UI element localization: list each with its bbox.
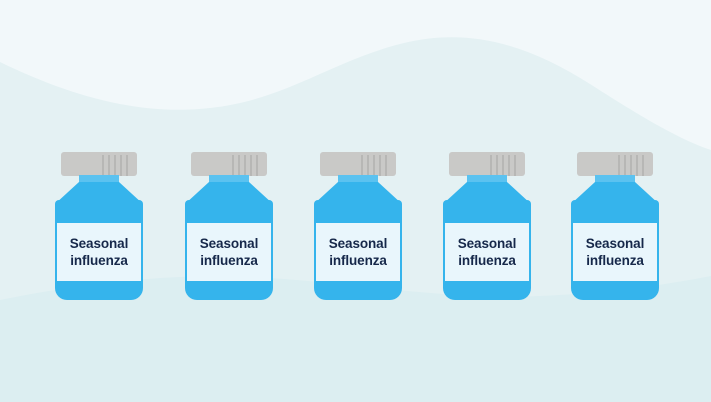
cap-ridge	[361, 155, 363, 176]
vial-label-line-1: Seasonal	[200, 235, 258, 252]
cap-ridge	[514, 155, 516, 176]
cap-ridge-group	[490, 155, 516, 176]
vial-cap-icon	[320, 152, 396, 176]
vial-label-line-2: influenza	[70, 252, 128, 269]
vial-label-line-1: Seasonal	[458, 235, 516, 252]
cap-ridge	[256, 155, 258, 176]
vial-label-line-1: Seasonal	[586, 235, 644, 252]
cap-ridge	[244, 155, 246, 176]
vial: Seasonal influenza	[443, 152, 531, 300]
vial: Seasonal influenza	[571, 152, 659, 300]
vial-label-line-2: influenza	[329, 252, 387, 269]
cap-ridge-group	[232, 155, 258, 176]
vial-cap-icon	[191, 152, 267, 176]
illustration-canvas: Seasonal influenza Seasonal	[0, 0, 711, 402]
cap-ridge-group	[361, 155, 387, 176]
cap-ridge	[250, 155, 252, 176]
cap-ridge	[642, 155, 644, 176]
vial: Seasonal influenza	[55, 152, 143, 300]
cap-ridge	[636, 155, 638, 176]
vial: Seasonal influenza	[314, 152, 402, 300]
vial: Seasonal influenza	[185, 152, 273, 300]
cap-ridge	[120, 155, 122, 176]
cap-ridge	[630, 155, 632, 176]
cap-ridge	[379, 155, 381, 176]
vial-label: Seasonal influenza	[573, 223, 657, 281]
vial-cap-icon	[449, 152, 525, 176]
vial-label-line-1: Seasonal	[70, 235, 128, 252]
cap-ridge	[624, 155, 626, 176]
vial-label: Seasonal influenza	[316, 223, 400, 281]
vial-cap-icon	[577, 152, 653, 176]
cap-ridge	[502, 155, 504, 176]
cap-ridge	[108, 155, 110, 176]
cap-ridge	[496, 155, 498, 176]
cap-ridge	[114, 155, 116, 176]
vial-label: Seasonal influenza	[57, 223, 141, 281]
cap-ridge	[102, 155, 104, 176]
cap-ridge	[232, 155, 234, 176]
cap-ridge	[367, 155, 369, 176]
cap-ridge	[508, 155, 510, 176]
vial-row: Seasonal influenza Seasonal	[0, 0, 711, 402]
cap-ridge	[373, 155, 375, 176]
cap-ridge	[238, 155, 240, 176]
cap-ridge-group	[102, 155, 128, 176]
cap-ridge	[385, 155, 387, 176]
vial-label-line-2: influenza	[586, 252, 644, 269]
vial-label-line-2: influenza	[200, 252, 258, 269]
vial-cap-icon	[61, 152, 137, 176]
vial-label: Seasonal influenza	[187, 223, 271, 281]
vial-label: Seasonal influenza	[445, 223, 529, 281]
cap-ridge	[126, 155, 128, 176]
cap-ridge-group	[618, 155, 644, 176]
vial-label-line-2: influenza	[458, 252, 516, 269]
vial-label-line-1: Seasonal	[329, 235, 387, 252]
cap-ridge	[490, 155, 492, 176]
cap-ridge	[618, 155, 620, 176]
